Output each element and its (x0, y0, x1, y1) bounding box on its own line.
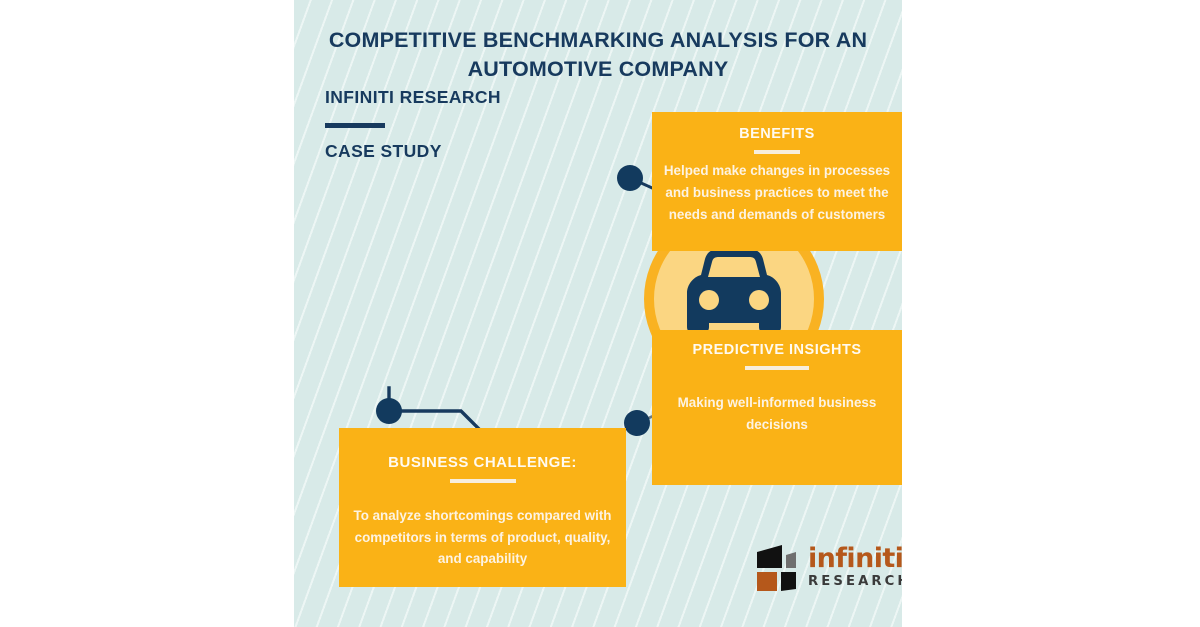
card-benefits[interactable]: BENEFITS Helped make changes in processe… (652, 112, 902, 251)
card-business-challenge[interactable]: BUSINESS CHALLENGE: To analyze shortcomi… (339, 428, 626, 587)
card-benefits-divider (754, 150, 800, 154)
document-type-label: CASE STUDY (325, 143, 501, 161)
card-business-challenge-body: To analyze shortcomings compared with co… (351, 505, 614, 570)
infographic-canvas: COMPETITIVE BENCHMARKING ANALYSIS FOR AN… (294, 0, 902, 627)
connector-dot-predictive (624, 410, 650, 436)
company-name-label: INFINITI RESEARCH (325, 89, 501, 107)
brand-divider (325, 123, 385, 128)
card-predictive-insights-heading: PREDICTIVE INSIGHTS (666, 342, 888, 359)
card-business-challenge-heading: BUSINESS CHALLENGE: (351, 454, 614, 472)
card-benefits-body: Helped make changes in processes and bus… (660, 160, 894, 225)
logo-wordmark-primary: infiniti (808, 545, 902, 572)
card-predictive-insights[interactable]: PREDICTIVE INSIGHTS Making well-informed… (652, 330, 902, 485)
infiniti-logo-text: infiniti RESEARCH (808, 545, 902, 588)
brand-block: INFINITI RESEARCH CASE STUDY (325, 89, 501, 160)
card-predictive-insights-body: Making well-informed business decisions (666, 392, 888, 435)
connector-dot-challenge (376, 398, 402, 424)
infiniti-research-logo[interactable]: infiniti RESEARCH (755, 541, 890, 599)
card-business-challenge-divider (450, 479, 516, 483)
card-benefits-heading: BENEFITS (660, 126, 894, 143)
logo-wordmark-secondary: RESEARCH (808, 575, 902, 588)
card-predictive-insights-divider (745, 366, 809, 370)
infographic-stage: COMPETITIVE BENCHMARKING ANALYSIS FOR AN… (0, 0, 1200, 627)
infiniti-logo-mark (755, 543, 803, 593)
page-title: COMPETITIVE BENCHMARKING ANALYSIS FOR AN… (328, 26, 868, 83)
connector-dot-benefits (617, 165, 643, 191)
